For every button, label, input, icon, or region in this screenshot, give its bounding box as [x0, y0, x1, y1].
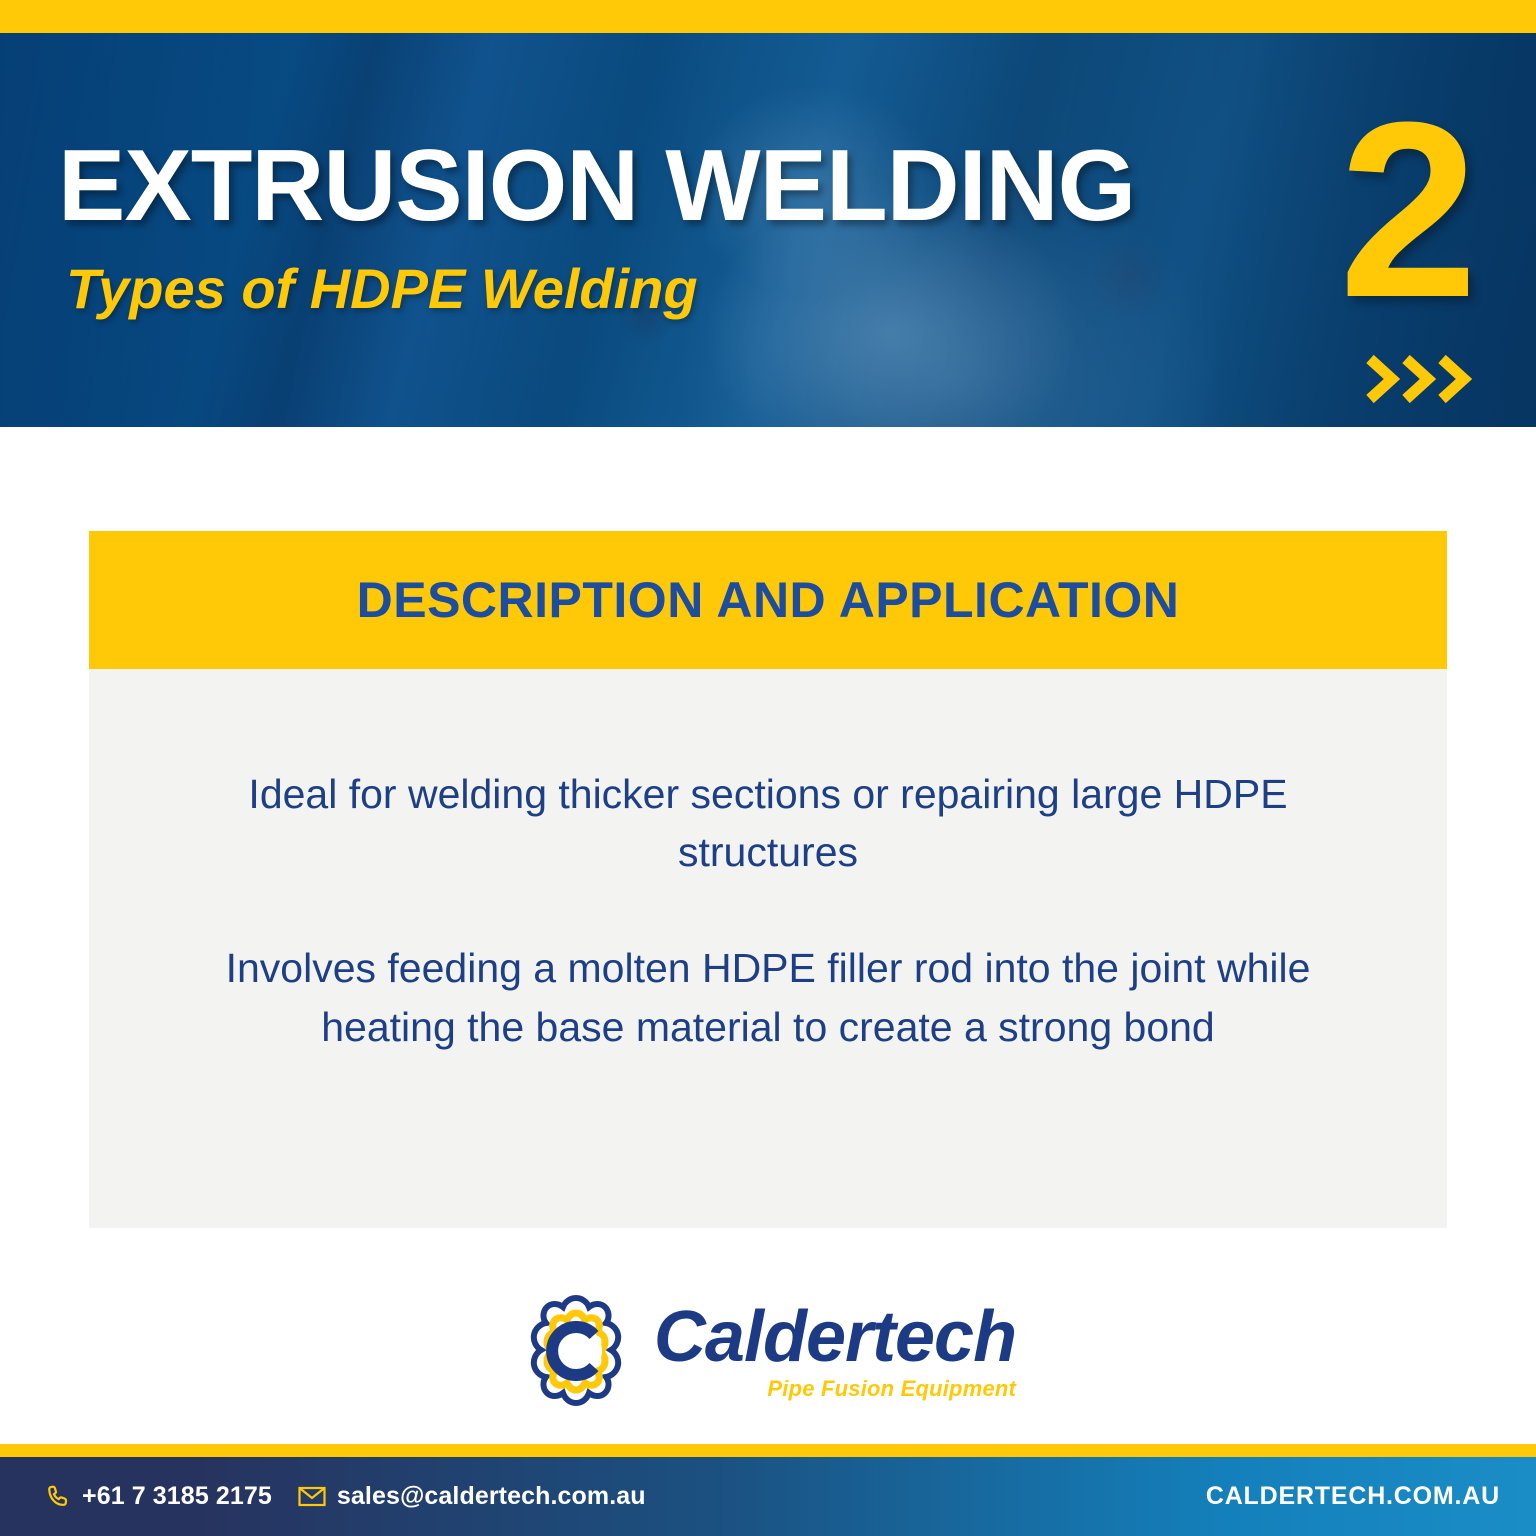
footer-email[interactable]: sales@caldertech.com.au	[298, 1482, 646, 1511]
slide-number-badge: 2	[1339, 85, 1478, 335]
logo-tagline: Pipe Fusion Equipment	[767, 1378, 1016, 1400]
triple-chevron-right-icon	[1364, 351, 1474, 407]
description-card: DESCRIPTION AND APPLICATION Ideal for we…	[89, 531, 1447, 1228]
footer-bar: +61 7 3185 2175 sales@caldertech.com.au …	[0, 1457, 1536, 1536]
footer-accent-bar	[0, 1444, 1536, 1457]
logo-wordmark: Caldertech	[654, 1302, 1016, 1373]
page-title: EXTRUSION WELDING	[58, 136, 1135, 237]
logo-text-block: Caldertech Pipe Fusion Equipment	[654, 1302, 1016, 1400]
envelope-icon	[298, 1486, 326, 1507]
description-paragraph-1: Ideal for welding thicker sections or re…	[223, 765, 1313, 881]
footer-email-text: sales@caldertech.com.au	[337, 1482, 646, 1511]
top-accent-bar	[0, 0, 1536, 33]
footer-contact-group: +61 7 3185 2175 sales@caldertech.com.au	[46, 1482, 646, 1511]
page-subtitle: Types of HDPE Welding	[66, 261, 698, 317]
phone-icon	[46, 1484, 71, 1509]
card-body: Ideal for welding thicker sections or re…	[89, 669, 1447, 1228]
hero-banner: EXTRUSION WELDING Types of HDPE Welding …	[0, 33, 1536, 427]
card-header-title: DESCRIPTION AND APPLICATION	[357, 571, 1180, 629]
description-paragraph-2: Involves feeding a molten HDPE filler ro…	[223, 939, 1313, 1055]
footer-website-link[interactable]: CALDERTECH.COM.AU	[1206, 1482, 1500, 1511]
caldertech-rose-c-icon	[520, 1292, 632, 1410]
card-header: DESCRIPTION AND APPLICATION	[89, 531, 1447, 669]
brand-logo: Caldertech Pipe Fusion Equipment	[0, 1292, 1536, 1410]
footer-phone-text: +61 7 3185 2175	[82, 1482, 272, 1511]
footer-phone[interactable]: +61 7 3185 2175	[46, 1482, 272, 1511]
